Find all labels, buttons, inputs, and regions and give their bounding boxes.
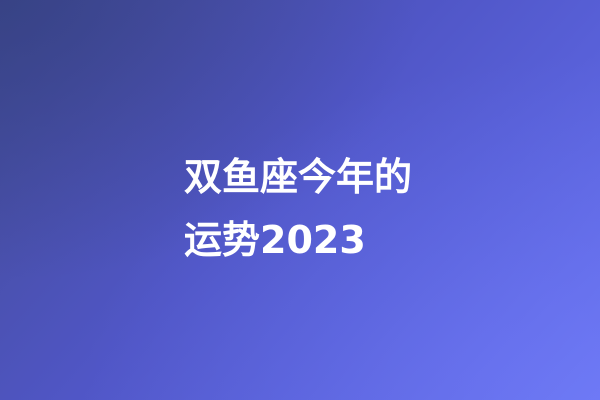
banner-canvas: 双鱼座今年的 运势2023	[0, 0, 600, 400]
title-line-2: 运势2023	[184, 209, 484, 272]
page-title: 双鱼座今年的 运势2023	[184, 146, 484, 272]
title-line-1: 双鱼座今年的	[184, 146, 484, 209]
